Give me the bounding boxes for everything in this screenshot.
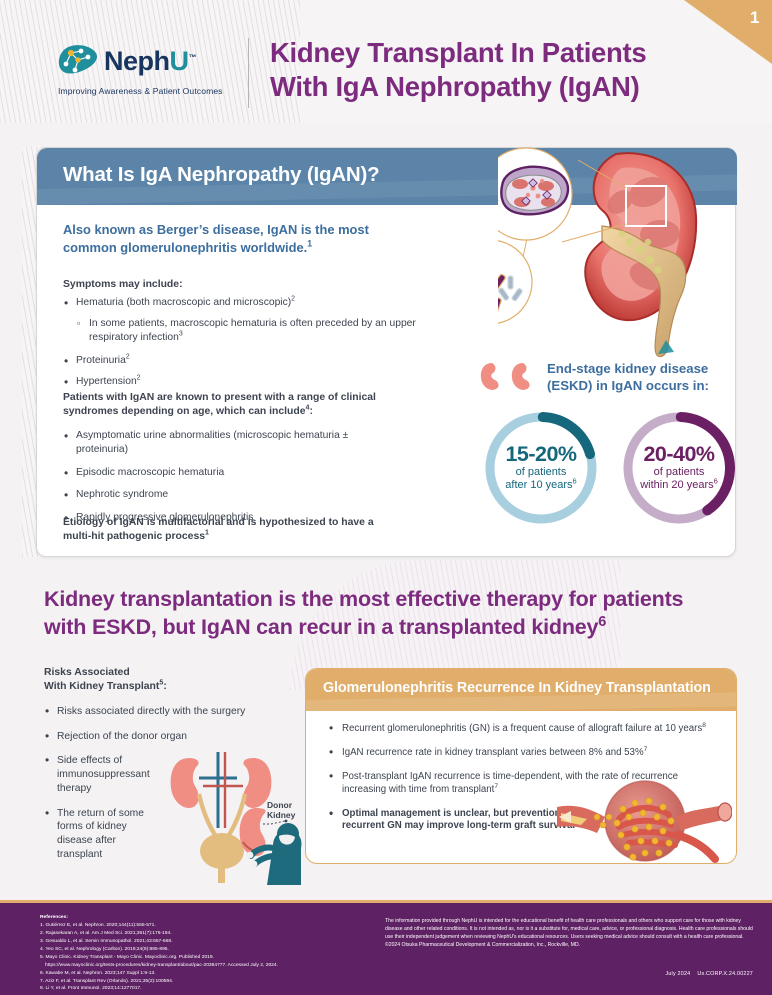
logo-word-u: U: [170, 46, 189, 76]
footer-job-code: Us.CORP.X.24.00227: [697, 971, 753, 977]
copyright-text: ©2024 Otsuka Pharmaceutical Development …: [385, 942, 580, 948]
etiology-ref: 1: [205, 530, 209, 537]
nephu-kidney-network-icon: [58, 43, 100, 79]
risks-heading: Risks Associated With Kidney Transplant5…: [44, 666, 294, 694]
section2-title-line1: Kidney transplantation is the most effec…: [44, 586, 744, 614]
syndromes-heading: Patients with IgAN are known to present …: [63, 391, 383, 420]
etiology-body: Etiology of IgAN is multifactorial and i…: [63, 517, 374, 542]
list-item: Nephrotic syndrome: [63, 488, 363, 502]
reference-item: 2. Rajasekaran A, et al. Am J Med Sci. 2…: [40, 930, 370, 938]
risks-heading-line2-text: With Kidney Transplant: [44, 681, 159, 692]
donut-label-ref: 6: [714, 477, 718, 486]
section3-title: Glomerulonephritis Recurrence In Kidney …: [323, 680, 711, 696]
reference-item: 4. Yeo SC, et al. Nephrology (Carlton). …: [40, 946, 370, 954]
symptom-ref: 2: [137, 375, 141, 382]
list-item: In some patients, macroscopic hematuria …: [63, 317, 423, 345]
symptom-ref: 2: [291, 296, 295, 303]
list-item: Proteinuria2: [63, 354, 423, 368]
list-item: Risks associated directly with the surge…: [44, 705, 294, 719]
item-text: Recurrent glomerulonephritis (GN) is a f…: [342, 723, 702, 734]
page-header: 1 NephU™: [0, 0, 772, 123]
list-item: Rejection of the donor organ: [44, 730, 294, 744]
eskd-stats-group: End-stage kidney disease (ESKD) in IgAN …: [479, 360, 729, 545]
list-item: The return of some forms of kidney disea…: [44, 807, 164, 862]
donut-center-label: 20-40% of patients within 20 years6: [619, 408, 739, 528]
page-footer: References: 1. Gutiérrez E, et al. Nephr…: [0, 903, 772, 995]
reference-item: 6. Kawabe M, et al. Nephron. 2023;147 Su…: [40, 970, 370, 978]
section1-lead-body: Also known as Berger’s disease, IgAN is …: [63, 222, 369, 255]
symptom-ref: 3: [179, 330, 183, 337]
references-block: References: 1. Gutiérrez E, et al. Nephr…: [40, 914, 370, 993]
item-ref: 7: [494, 782, 498, 789]
kidney-transplant-illustration: Donor Kidney: [155, 750, 305, 885]
logo-word-neph: Neph: [104, 46, 170, 76]
list-item: Hypertension2: [63, 375, 423, 389]
header-divider: [248, 38, 249, 108]
reference-item: 1. Gutiérrez E, et al. Nephron. 2020;144…: [40, 922, 370, 930]
symptom-text: In some patients, macroscopic hematuria …: [89, 318, 416, 343]
item-ref: 7: [644, 746, 648, 753]
page-title-line1: Kidney Transplant In Patients: [270, 36, 750, 70]
donut-label-line1: of patients: [516, 466, 567, 480]
reference-item: 3. Gesualdo L, et al. Semin Immunopathol…: [40, 938, 370, 946]
nephu-logo: NephU™ Improving Awareness & Patient Out…: [58, 43, 238, 105]
donor-kidney-label-line1: Donor: [267, 800, 293, 810]
section1-lead-ref: 1: [307, 239, 312, 249]
item-text: IgAN recurrence rate in kidney transplan…: [342, 747, 644, 758]
risks-heading-line1: Risks Associated: [44, 666, 294, 680]
list-item: Side effects of immunosuppressant therap…: [44, 754, 154, 795]
symptom-text: Hypertension: [76, 376, 137, 387]
donut-label-line2: after 10 years6: [505, 479, 576, 493]
section-what-is-igan: What Is IgA Nephropathy (IgAN)? Also kno…: [36, 147, 736, 557]
donut-label-line1: of patients: [654, 466, 705, 480]
glomerulus-illustration: [557, 773, 732, 863]
donut-label-text: within 20 years: [640, 479, 713, 491]
section2-title-line2: with ESKD, but IgAN can recur in a trans…: [44, 614, 744, 642]
infographic-page: 1 NephU™: [0, 0, 772, 995]
eskd-donut-10-years: 15-20% of patients after 10 years6: [481, 408, 601, 528]
symptom-ref: 2: [126, 354, 130, 361]
etiology-text: Etiology of IgAN is multifactorial and i…: [63, 516, 383, 545]
logo-wordmark: NephU™: [104, 48, 196, 75]
donut-label-line2: within 20 years6: [640, 479, 718, 493]
donut-value: 15-20%: [505, 443, 576, 466]
symptoms-heading: Symptoms may include:: [63, 278, 183, 292]
list-item: Hematuria (both macroscopic and microsco…: [63, 296, 423, 310]
risks-heading-line2: With Kidney Transplant5:: [44, 680, 294, 694]
section2-title: Kidney transplantation is the most effec…: [44, 586, 744, 641]
reference-item-url: https://www.mayoclinic.org/tests-procedu…: [40, 962, 370, 970]
footer-disclaimer: The information provided through NephU i…: [385, 917, 753, 949]
symptom-text: Proteinuria: [76, 355, 126, 366]
risks-heading-tail: :: [163, 681, 166, 692]
list-item: Recurrent glomerulonephritis (GN) is a f…: [328, 723, 718, 736]
donut-label-text: after 10 years: [505, 479, 572, 491]
eskd-donut-20-years: 20-40% of patients within 20 years6: [619, 408, 739, 528]
donut-center-label: 15-20% of patients after 10 years6: [481, 408, 601, 528]
section1-title: What Is IgA Nephropathy (IgAN)?: [63, 163, 379, 187]
page-title-line2: With IgA Nephropathy (IgAN): [270, 70, 750, 104]
section2-title-ref: 6: [598, 613, 606, 629]
item-text: Optimal management is unclear, but preve…: [342, 808, 575, 832]
footer-date: July 2024: [665, 971, 690, 977]
disclaimer-text: The information provided through NephU i…: [385, 918, 753, 940]
footer-code-line: July 2024Us.CORP.X.24.00227: [665, 971, 753, 977]
item-ref: 8: [702, 722, 706, 729]
symptoms-list: Hematuria (both macroscopic and microsco…: [63, 296, 423, 396]
section1-lead-text: Also known as Berger’s disease, IgAN is …: [63, 221, 393, 258]
donut-label-ref: 6: [573, 477, 577, 486]
page-number: 1: [750, 8, 760, 28]
syndromes-heading-tail: :: [309, 406, 312, 417]
kidney-anatomy-illustration: [498, 130, 748, 370]
list-item: IgAN recurrence rate in kidney transplan…: [328, 747, 718, 760]
list-item: Asymptomatic urine abnormalities (micros…: [63, 429, 363, 457]
donor-kidney-label-line2: Kidney: [267, 810, 296, 820]
eskd-heading-line2: (ESKD) in IgAN occurs in:: [547, 377, 732, 394]
logo-trademark: ™: [189, 53, 197, 62]
references-title: References:: [40, 914, 370, 922]
section-gn-recurrence: Glomerulonephritis Recurrence In Kidney …: [305, 668, 737, 864]
syndromes-heading-body: Patients with IgAN are known to present …: [63, 392, 376, 417]
reference-item: 8. Li Y, et al. Front Immunol. 2023;14:1…: [40, 985, 370, 993]
logo-tagline: Improving Awareness & Patient Outcomes: [58, 86, 238, 96]
list-item: Episodic macroscopic hematuria: [63, 466, 363, 480]
reference-item: 7. Aziz F, et al. Transplant Rev (Orland…: [40, 978, 370, 986]
section2-title-line2-text: with ESKD, but IgAN can recur in a trans…: [44, 615, 598, 639]
page-title: Kidney Transplant In Patients With IgA N…: [270, 36, 750, 103]
donut-value: 20-40%: [643, 443, 714, 466]
symptom-text: Hematuria (both macroscopic and microsco…: [76, 297, 291, 308]
reference-item: 5. Mayo Clinic. Kidney Transplant - Mayo…: [40, 954, 370, 962]
